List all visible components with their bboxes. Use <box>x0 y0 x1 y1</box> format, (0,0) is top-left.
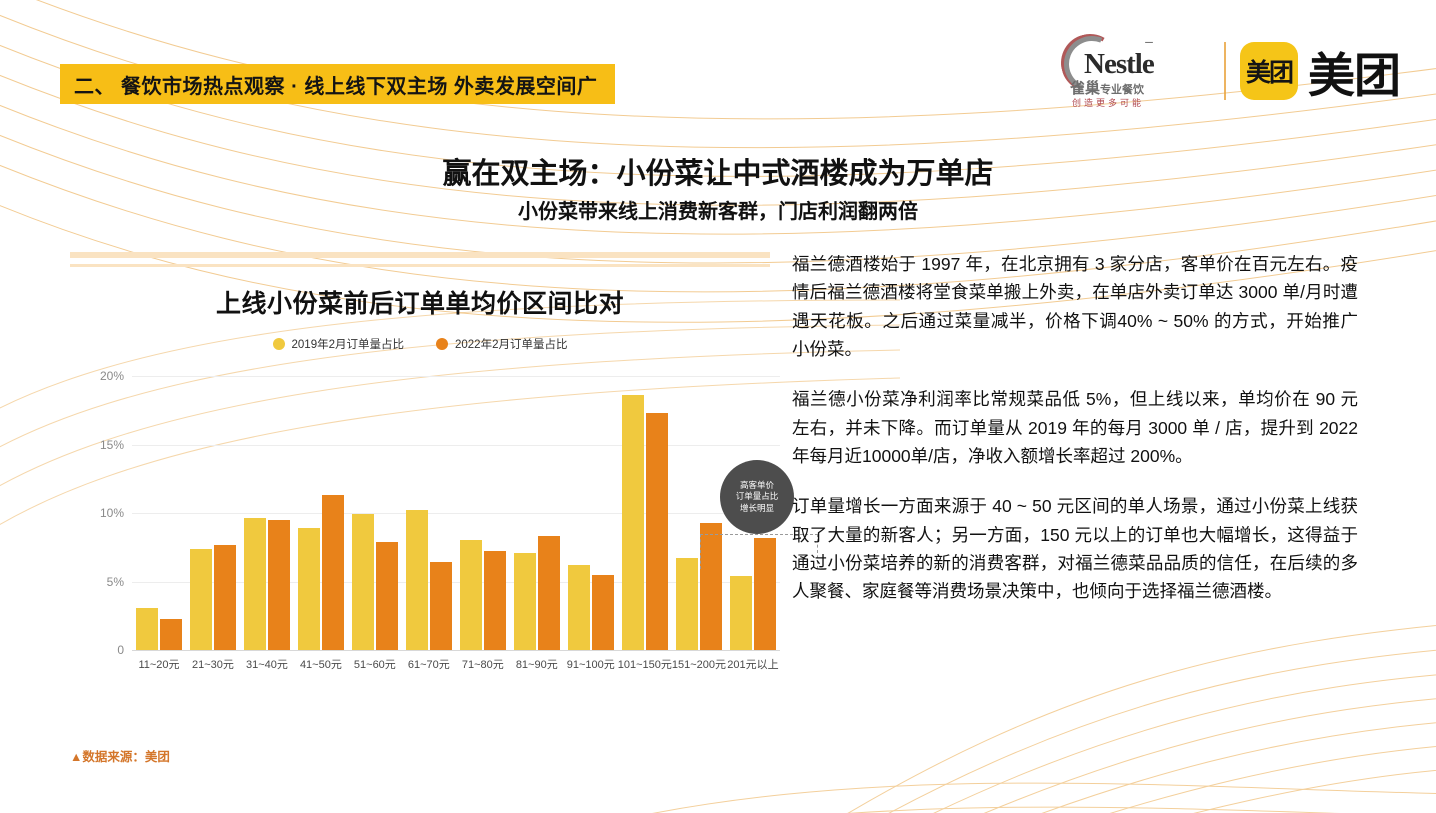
logo-bar: Nestle¯ 雀巢专业餐饮 创造更多可能 美团 美团 <box>1060 32 1400 110</box>
bar-2019[interactable] <box>676 558 698 650</box>
legend-item-2022: 2022年2月订单量占比 <box>436 336 567 352</box>
bar-2022[interactable] <box>538 536 560 650</box>
chart-rule-second <box>70 264 770 267</box>
y-axis-tick: 20% <box>100 369 124 383</box>
bar-2022[interactable] <box>646 413 668 650</box>
bar-2022[interactable] <box>592 575 614 650</box>
bar-group[interactable] <box>510 376 564 650</box>
legend-label-2022: 2022年2月订单量占比 <box>455 336 567 352</box>
bar-2022[interactable] <box>214 545 236 650</box>
bar-2019[interactable] <box>514 553 536 650</box>
legend-swatch-2019 <box>273 338 285 350</box>
bar-2022[interactable] <box>754 538 776 650</box>
section-ribbon-label: 二、 餐饮市场热点观察 · 线上线下双主场 外卖发展空间广 <box>74 70 597 99</box>
nestle-chinese-name: 雀巢专业餐饮 <box>1070 77 1144 98</box>
bar-2019[interactable] <box>298 528 320 650</box>
meituan-badge-icon: 美团 <box>1240 42 1298 100</box>
chart-plot-area: 05%10%15%20% 11~20元21~30元31~40元41~50元51~… <box>88 376 780 661</box>
bar-group[interactable] <box>348 376 402 650</box>
case-study-paragraph: 福兰德小份菜净利润率比常规菜品低 5%，但上线以来，单均价在 90 元左右，并未… <box>792 385 1358 470</box>
y-axis-tick: 10% <box>100 506 124 520</box>
legend-item-2019: 2019年2月订单量占比 <box>273 336 404 352</box>
chart-rule-top <box>70 252 770 258</box>
bar-group[interactable] <box>726 376 780 650</box>
bar-2019[interactable] <box>730 576 752 650</box>
bar-group[interactable] <box>618 376 672 650</box>
bar-2019[interactable] <box>190 549 212 650</box>
page-title: 赢在双主场：小份菜让中式酒楼成为万单店 <box>0 150 1436 192</box>
nestle-slogan: 创造更多可能 <box>1072 96 1144 109</box>
bar-group[interactable] <box>672 376 726 650</box>
nestle-macron-icon: ¯ <box>1145 41 1152 58</box>
bar-2022[interactable] <box>700 523 722 650</box>
bar-2019[interactable] <box>622 395 644 650</box>
nestle-logo: Nestle¯ 雀巢专业餐饮 创造更多可能 <box>1060 32 1210 110</box>
bar-2022[interactable] <box>322 495 344 650</box>
bar-2019[interactable] <box>136 608 158 650</box>
x-axis-tick: 91~100元 <box>564 656 618 672</box>
bar-group[interactable] <box>186 376 240 650</box>
y-axis: 05%10%15%20% <box>88 376 130 650</box>
x-axis-tick: 61~70元 <box>402 656 456 672</box>
case-study-paragraph: 订单量增长一方面来源于 40 ~ 50 元区间的单人场景，通过小份菜上线获取了大… <box>792 492 1358 605</box>
bar-2022[interactable] <box>376 542 398 650</box>
legend-label-2019: 2019年2月订单量占比 <box>292 336 404 352</box>
chart-bars <box>132 376 780 650</box>
bar-2019[interactable] <box>352 514 374 650</box>
x-axis-tick: 51~60元 <box>348 656 402 672</box>
y-axis-tick: 15% <box>100 438 124 452</box>
chart-legend: 2019年2月订单量占比 2022年2月订单量占比 <box>60 336 780 352</box>
x-axis-tick: 21~30元 <box>186 656 240 672</box>
chart-title: 上线小份菜前后订单单均价区间比对 <box>60 284 780 320</box>
bar-2019[interactable] <box>460 540 482 650</box>
bar-2022[interactable] <box>430 562 452 650</box>
x-axis-tick: 201元以上 <box>726 656 780 672</box>
bar-group[interactable] <box>402 376 456 650</box>
bar-2022[interactable] <box>484 551 506 650</box>
legend-swatch-2022 <box>436 338 448 350</box>
x-axis-tick: 41~50元 <box>294 656 348 672</box>
bar-2022[interactable] <box>160 619 182 651</box>
x-axis-tick: 11~20元 <box>132 656 186 672</box>
logo-divider <box>1224 42 1226 100</box>
bar-2022[interactable] <box>268 520 290 650</box>
case-study-text: 福兰德酒楼始于 1997 年，在北京拥有 3 家分店，客单价在百元左右。疫情后福… <box>792 250 1358 628</box>
x-axis-tick: 151~200元 <box>672 656 726 672</box>
x-axis-tick: 101~150元 <box>618 656 672 672</box>
y-axis-tick: 5% <box>107 575 124 589</box>
bar-group[interactable] <box>564 376 618 650</box>
meituan-logo: 美团 美团 <box>1240 37 1400 106</box>
gridline <box>132 650 780 651</box>
bar-2019[interactable] <box>406 510 428 650</box>
y-axis-tick: 0 <box>117 643 124 657</box>
bar-2019[interactable] <box>244 518 266 650</box>
chart-card: 上线小份菜前后订单单均价区间比对 2019年2月订单量占比 2022年2月订单量… <box>60 248 780 688</box>
bar-group[interactable] <box>240 376 294 650</box>
data-source-note: ▲数据来源：美团 <box>70 746 170 765</box>
page-subtitle: 小份菜带来线上消费新客群，门店利润翻两倍 <box>0 195 1436 224</box>
section-ribbon: 二、 餐饮市场热点观察 · 线上线下双主场 外卖发展空间广 <box>60 64 615 104</box>
x-axis-tick: 71~80元 <box>456 656 510 672</box>
x-axis-tick: 31~40元 <box>240 656 294 672</box>
bar-group[interactable] <box>294 376 348 650</box>
case-study-paragraph: 福兰德酒楼始于 1997 年，在北京拥有 3 家分店，客单价在百元左右。疫情后福… <box>792 250 1358 363</box>
bar-group[interactable] <box>132 376 186 650</box>
meituan-wordmark: 美团 <box>1308 37 1400 106</box>
bar-group[interactable] <box>456 376 510 650</box>
x-axis-tick: 81~90元 <box>510 656 564 672</box>
x-axis: 11~20元21~30元31~40元41~50元51~60元61~70元71~8… <box>132 656 780 672</box>
bar-2019[interactable] <box>568 565 590 650</box>
